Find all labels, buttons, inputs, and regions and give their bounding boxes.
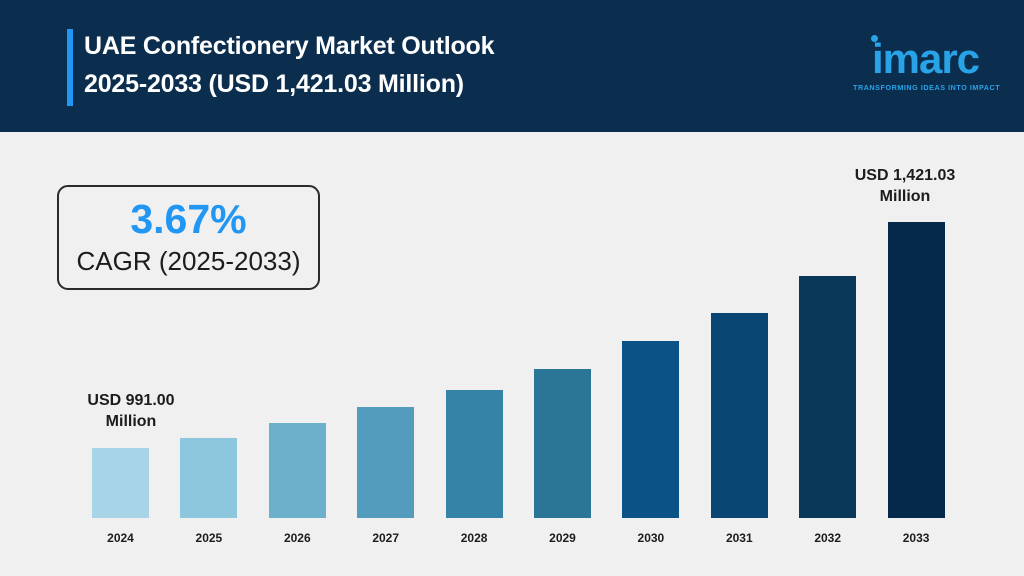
x-axis-label-2028: 2028 xyxy=(430,531,519,545)
page-title-line-2: 2025-2033 (USD 1,421.03 Million) xyxy=(84,65,804,103)
first-value-callout: USD 991.00 Million xyxy=(41,390,221,432)
bar-2024[interactable] xyxy=(92,448,149,518)
bar-2030[interactable] xyxy=(622,341,679,518)
first-value-amount: USD 991.00 xyxy=(41,390,221,411)
page-title: UAE Confectionery Market Outlook 2025-20… xyxy=(84,27,804,103)
header-accent-bar xyxy=(67,29,73,106)
bar-2028[interactable] xyxy=(446,390,503,518)
x-axis-label-2024: 2024 xyxy=(76,531,165,545)
bar-2032[interactable] xyxy=(799,276,856,518)
last-value-callout: USD 1,421.03 Million xyxy=(815,165,995,207)
bar-2027[interactable] xyxy=(357,407,414,518)
x-axis-label-2033: 2033 xyxy=(872,531,961,545)
bar-2025[interactable] xyxy=(180,438,237,518)
bar-2031[interactable] xyxy=(711,313,768,518)
bar-chart: USD 991.00 Million USD 1,421.03 Million … xyxy=(0,132,1024,576)
bar-2033[interactable] xyxy=(888,222,945,518)
x-axis-label-2031: 2031 xyxy=(695,531,784,545)
x-axis-label-2025: 2025 xyxy=(164,531,253,545)
x-axis-label-2030: 2030 xyxy=(606,531,695,545)
page-header: UAE Confectionery Market Outlook 2025-20… xyxy=(0,0,1024,132)
x-axis-label-2027: 2027 xyxy=(341,531,430,545)
bar-2026[interactable] xyxy=(269,423,326,518)
last-value-amount: USD 1,421.03 xyxy=(815,165,995,186)
logo-wordmark: imarc xyxy=(853,38,998,80)
x-axis-label-2029: 2029 xyxy=(518,531,607,545)
first-value-unit: Million xyxy=(41,411,221,432)
x-axis-label-2026: 2026 xyxy=(253,531,342,545)
page-title-line-1: UAE Confectionery Market Outlook xyxy=(84,27,804,65)
x-axis-label-2032: 2032 xyxy=(783,531,872,545)
imarc-logo: imarc TRANSFORMING IDEAS INTO IMPACT xyxy=(853,30,998,100)
logo-tagline: TRANSFORMING IDEAS INTO IMPACT xyxy=(853,83,998,92)
bar-2029[interactable] xyxy=(534,369,591,518)
last-value-unit: Million xyxy=(815,186,995,207)
